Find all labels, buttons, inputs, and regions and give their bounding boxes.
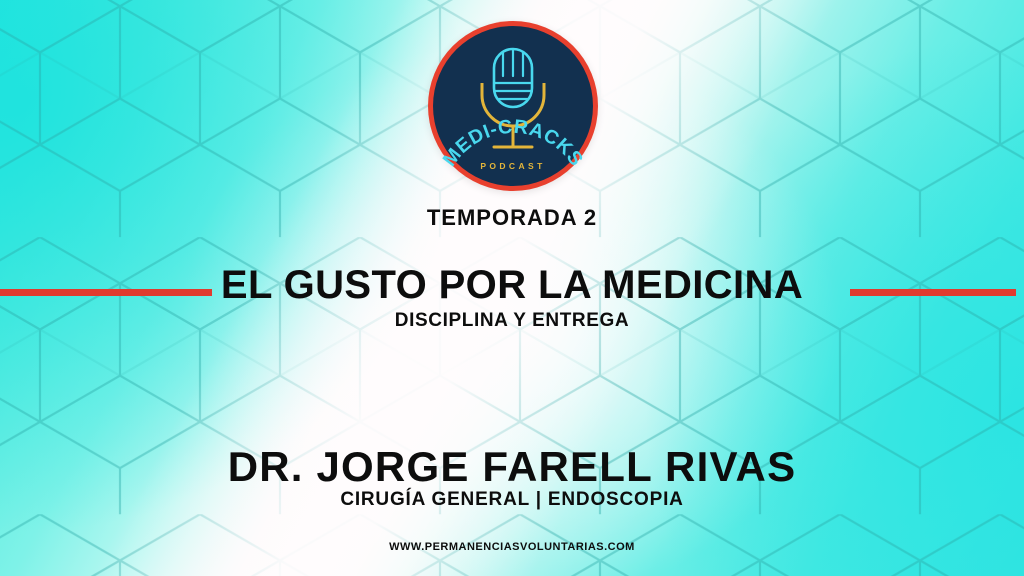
speaker-name: DR. JORGE FARELL RIVAS <box>0 443 1024 491</box>
episode-card: MEDI-CRACKS PODCAST TEMPORADA 2 EL GUSTO… <box>0 0 1024 576</box>
season-label: TEMPORADA 2 <box>0 205 1024 231</box>
website-url: WWW.PERMANENCIASVOLUNTARIAS.COM <box>0 541 1024 553</box>
speaker-speciality: CIRUGÍA GENERAL | ENDOSCOPIA <box>0 489 1024 511</box>
logo: MEDI-CRACKS PODCAST <box>428 21 598 191</box>
logo-artwork: MEDI-CRACKS PODCAST <box>428 21 598 191</box>
episode-title: EL GUSTO POR LA MEDICINA <box>0 265 1024 305</box>
logo-tagline: PODCAST <box>480 161 545 171</box>
episode-subtitle: DISCIPLINA Y ENTREGA <box>0 310 1024 332</box>
